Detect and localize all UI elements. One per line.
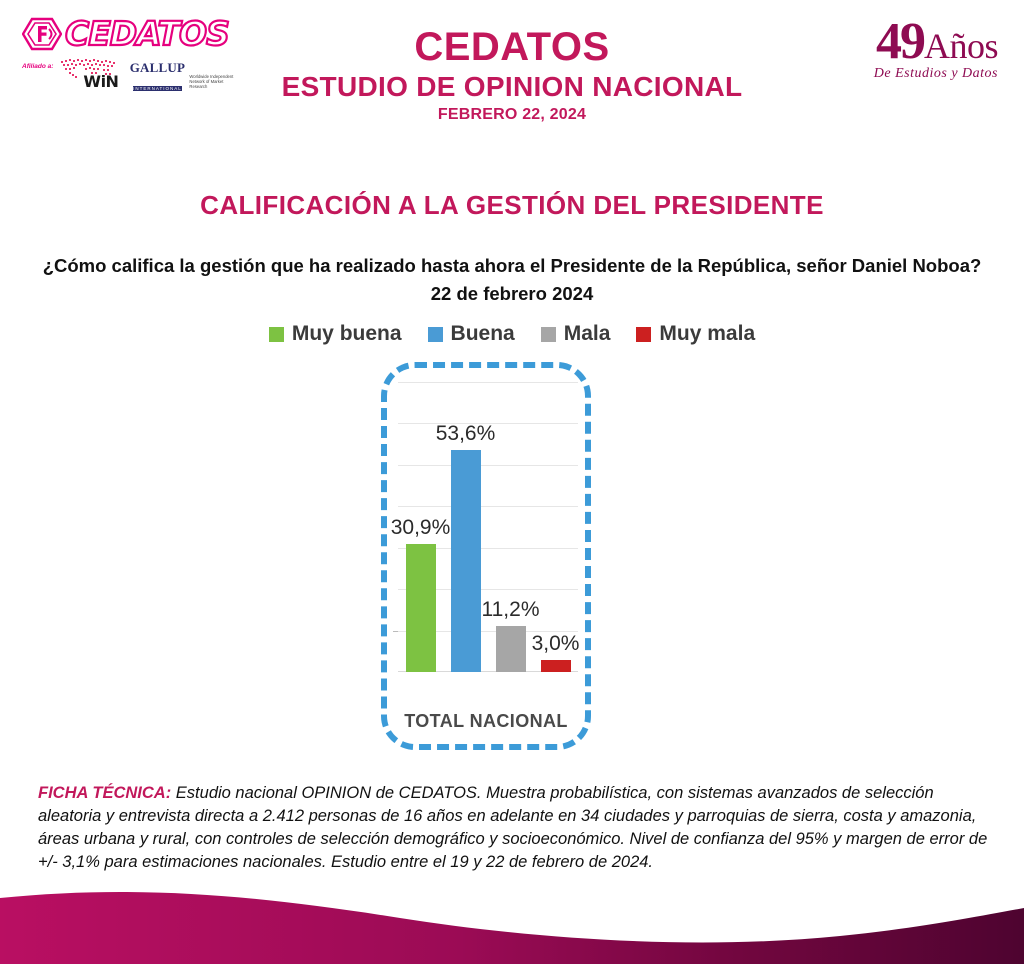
- legend-swatch-buena: [428, 327, 443, 342]
- legend-swatch-muy-mala: [636, 327, 651, 342]
- anniversary-tagline: De Estudios y Datos: [874, 66, 998, 82]
- page-title: CEDATOS: [0, 24, 1024, 70]
- bar-chart: 30,9% 53,6% 11,2% 3,0% TOTAL NACIONAL: [381, 362, 591, 750]
- bar-buena[interactable]: 53,6%: [451, 450, 481, 672]
- ficha-tecnica-label: FICHA TÉCNICA:: [38, 784, 171, 802]
- bar-value-mala: 11,2%: [482, 598, 540, 622]
- legend-label-muy-buena: Muy buena: [292, 322, 402, 346]
- legend-swatch-mala: [541, 327, 556, 342]
- chart-category-label: TOTAL NACIONAL: [381, 711, 591, 732]
- footer-wave-decoration: [0, 874, 1024, 964]
- bar-column-buena: 53,6%: [451, 382, 481, 672]
- survey-question-line1: ¿Cómo califica la gestión que ha realiza…: [8, 252, 1016, 280]
- chart-bars: 30,9% 53,6% 11,2% 3,0%: [398, 382, 578, 672]
- bar-mala[interactable]: 11,2%: [496, 626, 526, 672]
- legend-item-muy-mala: Muy mala: [636, 322, 755, 346]
- survey-question: ¿Cómo califica la gestión que ha realiza…: [8, 252, 1016, 308]
- ficha-tecnica-text: Estudio nacional OPINION de CEDATOS. Mue…: [38, 784, 987, 871]
- legend-swatch-muy-buena: [269, 327, 284, 342]
- section-heading: CALIFICACIÓN A LA GESTIÓN DEL PRESIDENTE: [0, 190, 1024, 221]
- header-title-block: CEDATOS ESTUDIO DE OPINION NACIONAL FEBR…: [0, 24, 1024, 126]
- page-subtitle: ESTUDIO DE OPINION NACIONAL: [0, 70, 1024, 104]
- bar-value-buena: 53,6%: [436, 422, 496, 446]
- legend-item-mala: Mala: [541, 322, 611, 346]
- legend-label-buena: Buena: [451, 322, 515, 346]
- anniversary-headline: 49 Años: [874, 16, 998, 68]
- page-date: FEBRERO 22, 2024: [0, 104, 1024, 126]
- anniversary-logo: 49 Años De Estudios y Datos: [874, 16, 998, 82]
- legend-label-mala: Mala: [564, 322, 611, 346]
- survey-question-line2: 22 de febrero 2024: [8, 280, 1016, 308]
- bar-column-muy-buena: 30,9%: [406, 382, 436, 672]
- bar-value-muy-mala: 3,0%: [532, 632, 580, 656]
- bar-column-mala: 11,2%: [496, 382, 526, 672]
- anniversary-number: 49: [876, 16, 924, 68]
- bar-value-muy-buena: 30,9%: [391, 516, 451, 540]
- bar-muy-buena[interactable]: 30,9%: [406, 544, 436, 672]
- bar-muy-mala[interactable]: 3,0%: [541, 660, 571, 672]
- ficha-tecnica: FICHA TÉCNICA: Estudio nacional OPINION …: [38, 782, 988, 874]
- legend-item-buena: Buena: [428, 322, 515, 346]
- page-header: CEDATOS Afiliado a:: [0, 0, 1024, 150]
- bar-column-muy-mala: 3,0%: [541, 382, 571, 672]
- anniversary-word: Años: [924, 28, 998, 64]
- chart-plot-area: 30,9% 53,6% 11,2% 3,0%: [398, 382, 578, 672]
- legend-label-muy-mala: Muy mala: [659, 322, 755, 346]
- chart-legend: Muy buena Buena Mala Muy mala: [0, 322, 1024, 346]
- legend-item-muy-buena: Muy buena: [269, 322, 402, 346]
